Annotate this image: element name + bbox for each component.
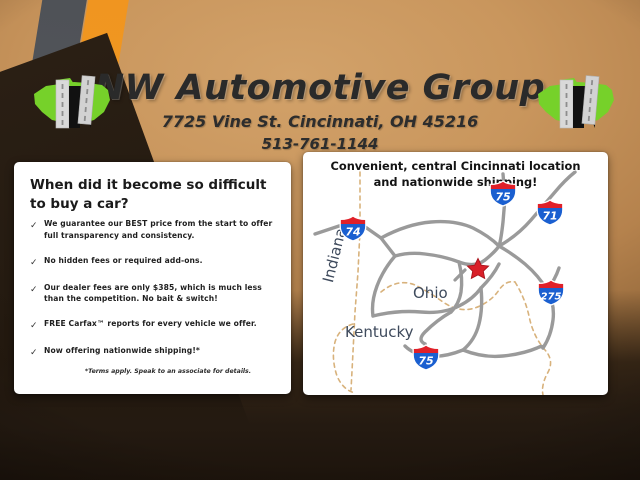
interstate-shield-icon: 75	[411, 344, 441, 371]
shield-number: 75	[418, 355, 434, 368]
marketing-banner: NW Automotive Group 7725 Vine St. Cincin…	[0, 0, 640, 480]
shield-number: 71	[542, 210, 557, 223]
state-label-kentucky: Kentucky	[345, 323, 414, 341]
benefits-list: ✓ We guarantee our BEST price from the s…	[30, 218, 280, 372]
nw-automotive-logo-right	[534, 72, 618, 134]
list-item-label: FREE Carfax™ reports for every vehicle w…	[44, 318, 280, 330]
terms-disclaimer: *Terms apply. Speak to an associate for …	[54, 368, 282, 375]
list-item: ✓ Now offering nationwide shipping!*	[30, 345, 280, 359]
list-item-label: No hidden fees or required add-ons.	[44, 255, 280, 267]
list-item-label: Now offering nationwide shipping!*	[44, 345, 280, 357]
list-item-label: We guarantee our BEST price from the sta…	[44, 218, 280, 242]
list-item: ✓ FREE Carfax™ reports for every vehicle…	[30, 318, 280, 332]
location-map-card: Convenient, central Cincinnati location …	[303, 152, 608, 395]
interstate-shield-icon: 71	[535, 199, 565, 226]
interstate-shield-i75-north: 75	[488, 180, 518, 207]
list-item: ✓ No hidden fees or required add-ons.	[30, 255, 280, 269]
pitch-heading: When did it become so difficult to buy a…	[30, 176, 274, 213]
interstate-shield-icon: 74	[338, 215, 368, 242]
list-item-label: Our dealer fees are only $385, which is …	[44, 282, 280, 306]
star-icon	[466, 257, 490, 281]
state-label-ohio: Ohio	[413, 284, 448, 302]
checkmark-icon: ✓	[30, 345, 44, 359]
map-heading-line2: and nationwide shipping!	[309, 174, 602, 190]
dealership-location-star-icon	[466, 257, 490, 281]
interstate-shield-i74: 74	[338, 215, 368, 242]
map-heading-line1: Convenient, central Cincinnati location	[309, 158, 602, 174]
interstate-shield-icon: 275	[536, 279, 566, 306]
shield-number: 74	[345, 226, 360, 239]
logo-icon	[30, 72, 114, 134]
interstate-shield-i275: 275	[536, 279, 566, 306]
list-item: ✓ We guarantee our BEST price from the s…	[30, 218, 280, 242]
logo-icon	[534, 72, 618, 134]
checkmark-icon: ✓	[30, 282, 44, 296]
interstate-shield-i75-south: 75	[411, 344, 441, 371]
checkmark-icon: ✓	[30, 218, 44, 232]
checkmark-icon: ✓	[30, 318, 44, 332]
interstate-shield-i71: 71	[535, 199, 565, 226]
map-heading: Convenient, central Cincinnati location …	[309, 158, 602, 190]
interstate-shield-icon: 75	[488, 180, 518, 207]
checkmark-icon: ✓	[30, 255, 44, 269]
shield-number: 75	[495, 191, 511, 204]
shield-number: 275	[541, 292, 562, 303]
nw-automotive-logo-left	[30, 72, 114, 134]
value-proposition-card: When did it become so difficult to buy a…	[14, 162, 291, 394]
list-item: ✓ Our dealer fees are only $385, which i…	[30, 282, 280, 306]
